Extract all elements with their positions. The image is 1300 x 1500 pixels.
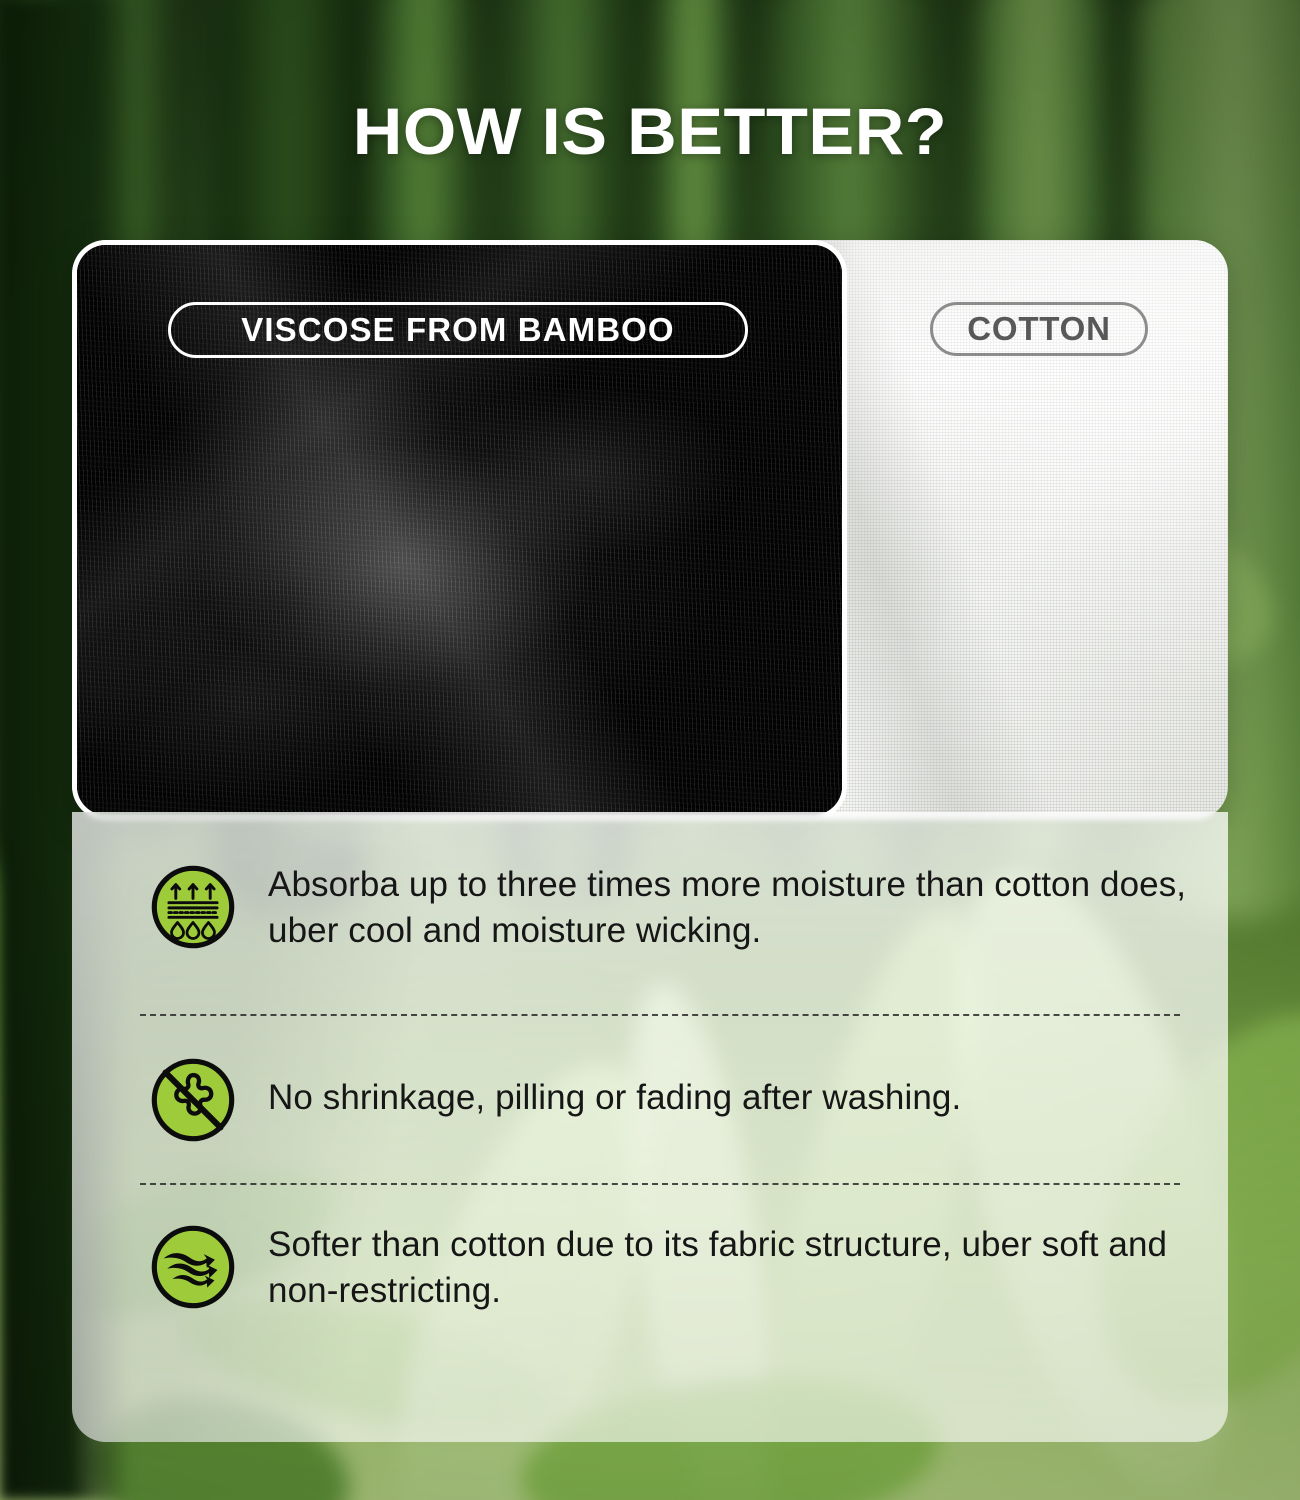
feature-item: Softer than cotton due to its fabric str…	[72, 1224, 1228, 1313]
feature-text: Softer than cotton due to its fabric str…	[268, 1222, 1193, 1313]
features-panel: Absorba up to three times more moisture …	[72, 812, 1228, 1442]
feature-item: No shrinkage, pilling or fading after wa…	[72, 1057, 1228, 1143]
feature-divider	[140, 1014, 1180, 1016]
badge-viscose-from-bamboo: VISCOSE FROM BAMBOO	[168, 302, 748, 358]
feature-divider	[140, 1183, 1180, 1185]
no-pilling-icon	[150, 1057, 236, 1143]
badge-cotton: COTTON	[930, 302, 1148, 356]
feature-text: Absorba up to three times more moisture …	[268, 862, 1193, 953]
page-title: HOW IS BETTER?	[0, 93, 1300, 169]
feature-item: Absorba up to three times more moisture …	[72, 864, 1228, 953]
feature-text: No shrinkage, pilling or fading after wa…	[268, 1075, 961, 1121]
moisture-wicking-icon	[150, 864, 236, 950]
softness-airflow-icon	[150, 1224, 236, 1310]
